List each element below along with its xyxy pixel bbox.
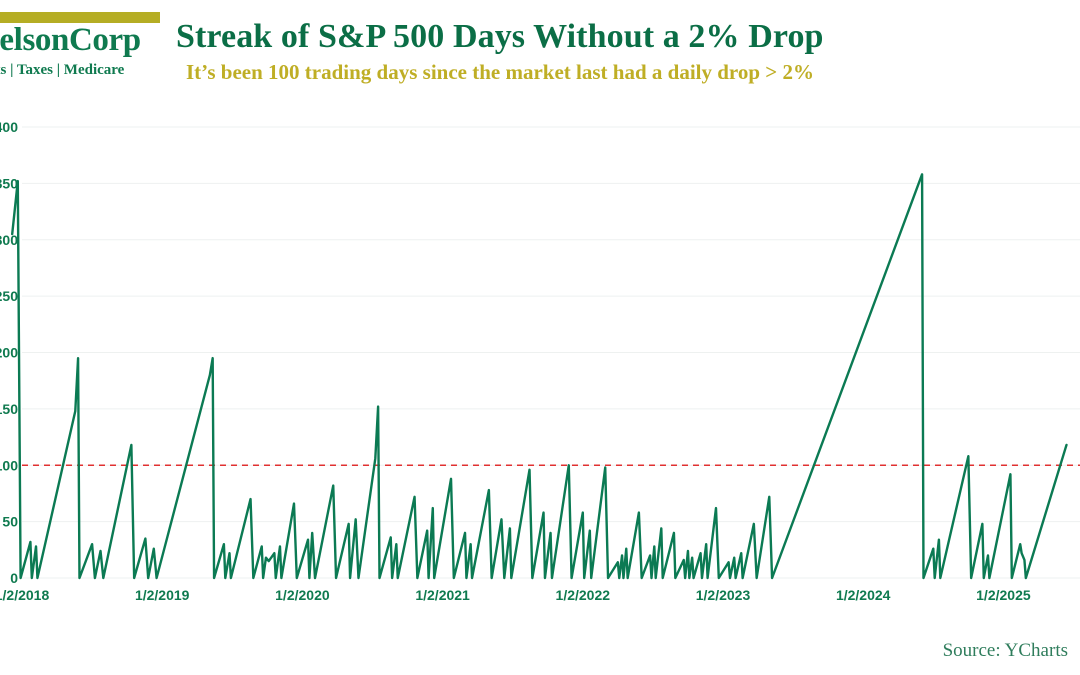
y-axis-tick-label: 100 (0, 457, 18, 473)
x-axis-tick-label: 1/2/2019 (135, 587, 190, 603)
y-axis-tick-label: 200 (0, 345, 18, 361)
x-axis-labels: 1/2/20181/2/20191/2/20201/2/20211/2/2022… (0, 587, 1031, 603)
y-axis-tick-label: 50 (2, 514, 18, 530)
x-axis-tick-label: 1/2/2018 (0, 587, 49, 603)
page-subtitle: It’s been 100 trading days since the mar… (186, 60, 814, 85)
y-axis-tick-label: 350 (0, 175, 18, 191)
chart-plot-area: 400350300250200150100500 1/2/20181/2/201… (0, 110, 1080, 610)
streak-line-chart: 400350300250200150100500 1/2/20181/2/201… (0, 110, 1080, 610)
x-axis-tick-label: 1/2/2021 (415, 587, 470, 603)
x-axis-tick-label: 1/2/2024 (836, 587, 891, 603)
y-axis-tick-label: 400 (0, 119, 18, 135)
chart-header: NelsonCorp ments | Taxes | Medicare Stre… (0, 0, 1080, 110)
y-axis-tick-label: 150 (0, 401, 18, 417)
source-attribution: Source: YCharts (943, 640, 1068, 662)
y-axis-labels: 400350300250200150100500 (0, 119, 18, 586)
y-axis-tick-label: 0 (10, 570, 18, 586)
logo-tagline: ments | Taxes | Medicare (0, 62, 124, 79)
x-axis-tick-label: 1/2/2022 (556, 587, 611, 603)
x-axis-tick-label: 1/2/2025 (976, 587, 1031, 603)
streak-series-line (12, 174, 1066, 578)
x-axis-tick-label: 1/2/2023 (696, 587, 751, 603)
logo-company-name: NelsonCorp (0, 22, 141, 59)
x-axis-tick-label: 1/2/2020 (275, 587, 330, 603)
nelsoncorp-logo: NelsonCorp ments | Taxes | Medicare (0, 12, 158, 82)
y-axis-tick-label: 250 (0, 288, 18, 304)
page-title: Streak of S&P 500 Days Without a 2% Drop (176, 18, 824, 56)
y-axis-tick-label: 300 (0, 232, 18, 248)
